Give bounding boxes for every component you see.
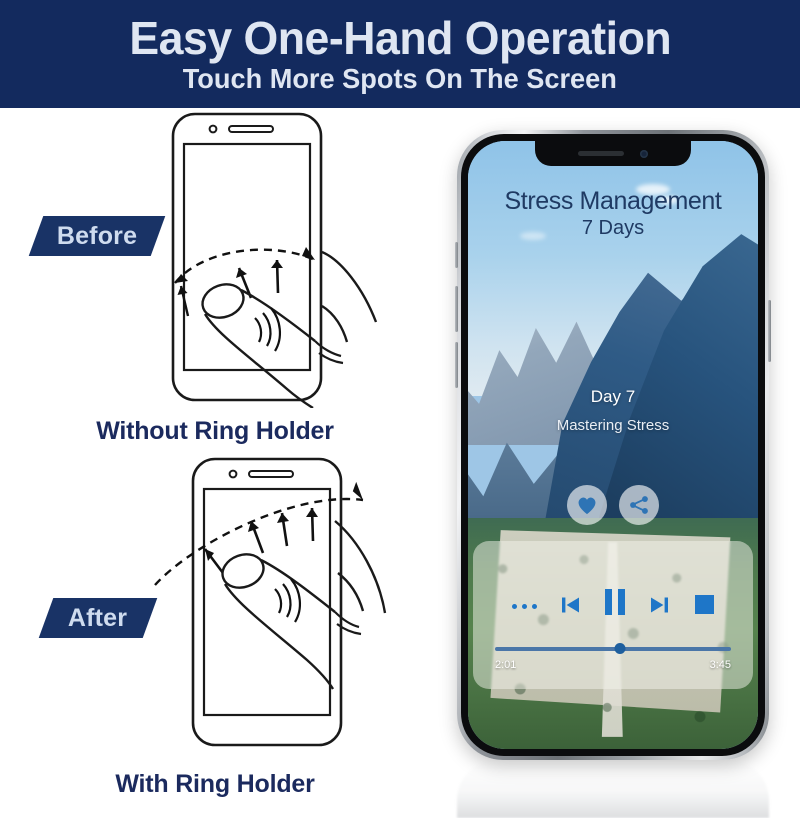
skip-forward-icon — [647, 593, 671, 617]
volume-down-button[interactable] — [455, 342, 458, 388]
phone-reflection — [457, 760, 769, 818]
phone-showcase: Stress Management 7 Days Day 7 Mastering… — [430, 108, 800, 800]
badge-before: Before — [29, 216, 166, 256]
more-options-button[interactable] — [497, 596, 551, 614]
previous-track-button[interactable] — [551, 593, 591, 617]
day-subtitle: Mastering Stress — [468, 417, 758, 434]
progress-slider[interactable] — [495, 647, 731, 651]
volume-up-button[interactable] — [455, 286, 458, 332]
mute-switch[interactable] — [455, 242, 458, 268]
page-subtitle: Touch More Spots On The Screen — [183, 64, 617, 93]
banner-header: Easy One-Hand Operation Touch More Spots… — [0, 0, 800, 108]
progress-handle[interactable] — [615, 643, 626, 654]
front-camera-icon — [640, 150, 648, 158]
phone-bezel: Stress Management 7 Days Day 7 Mastering… — [461, 134, 765, 756]
share-button[interactable] — [619, 485, 659, 525]
media-player-panel: 2:01 3:45 — [473, 541, 753, 689]
heart-icon — [576, 495, 598, 515]
comparison-column: Before — [0, 108, 430, 800]
next-track-button[interactable] — [639, 593, 679, 617]
smartphone-device: Stress Management 7 Days Day 7 Mastering… — [457, 130, 769, 760]
illustration-without-ring-holder — [155, 108, 415, 413]
elapsed-time: 2:01 — [495, 659, 516, 671]
pause-button[interactable] — [591, 589, 639, 620]
page-title: Easy One-Hand Operation — [129, 15, 671, 62]
app-action-row — [468, 485, 758, 525]
caption-with-ring-holder: With Ring Holder — [0, 770, 430, 799]
badge-before-label: Before — [57, 222, 137, 251]
app-subtitle: 7 Days — [468, 217, 758, 240]
more-dots-icon — [509, 596, 539, 614]
stop-icon — [695, 595, 714, 614]
phone-screen[interactable]: Stress Management 7 Days Day 7 Mastering… — [468, 141, 758, 749]
caption-without-ring-holder: Without Ring Holder — [0, 417, 430, 446]
app-title: Stress Management — [468, 187, 758, 216]
speaker-grille-icon — [578, 151, 624, 156]
share-icon — [628, 494, 650, 516]
illustration-with-ring-holder — [135, 453, 425, 758]
total-time: 3:45 — [710, 659, 731, 671]
stop-button[interactable] — [679, 595, 729, 614]
promo-banner: Easy One-Hand Operation Touch More Spots… — [0, 0, 800, 800]
skip-back-icon — [559, 593, 583, 617]
player-controls — [473, 589, 753, 620]
favorite-button[interactable] — [567, 485, 607, 525]
day-label: Day 7 — [468, 387, 758, 407]
phone-notch — [535, 141, 691, 166]
pause-icon — [602, 589, 628, 620]
badge-after-label: After — [68, 604, 127, 633]
power-button[interactable] — [768, 300, 771, 362]
